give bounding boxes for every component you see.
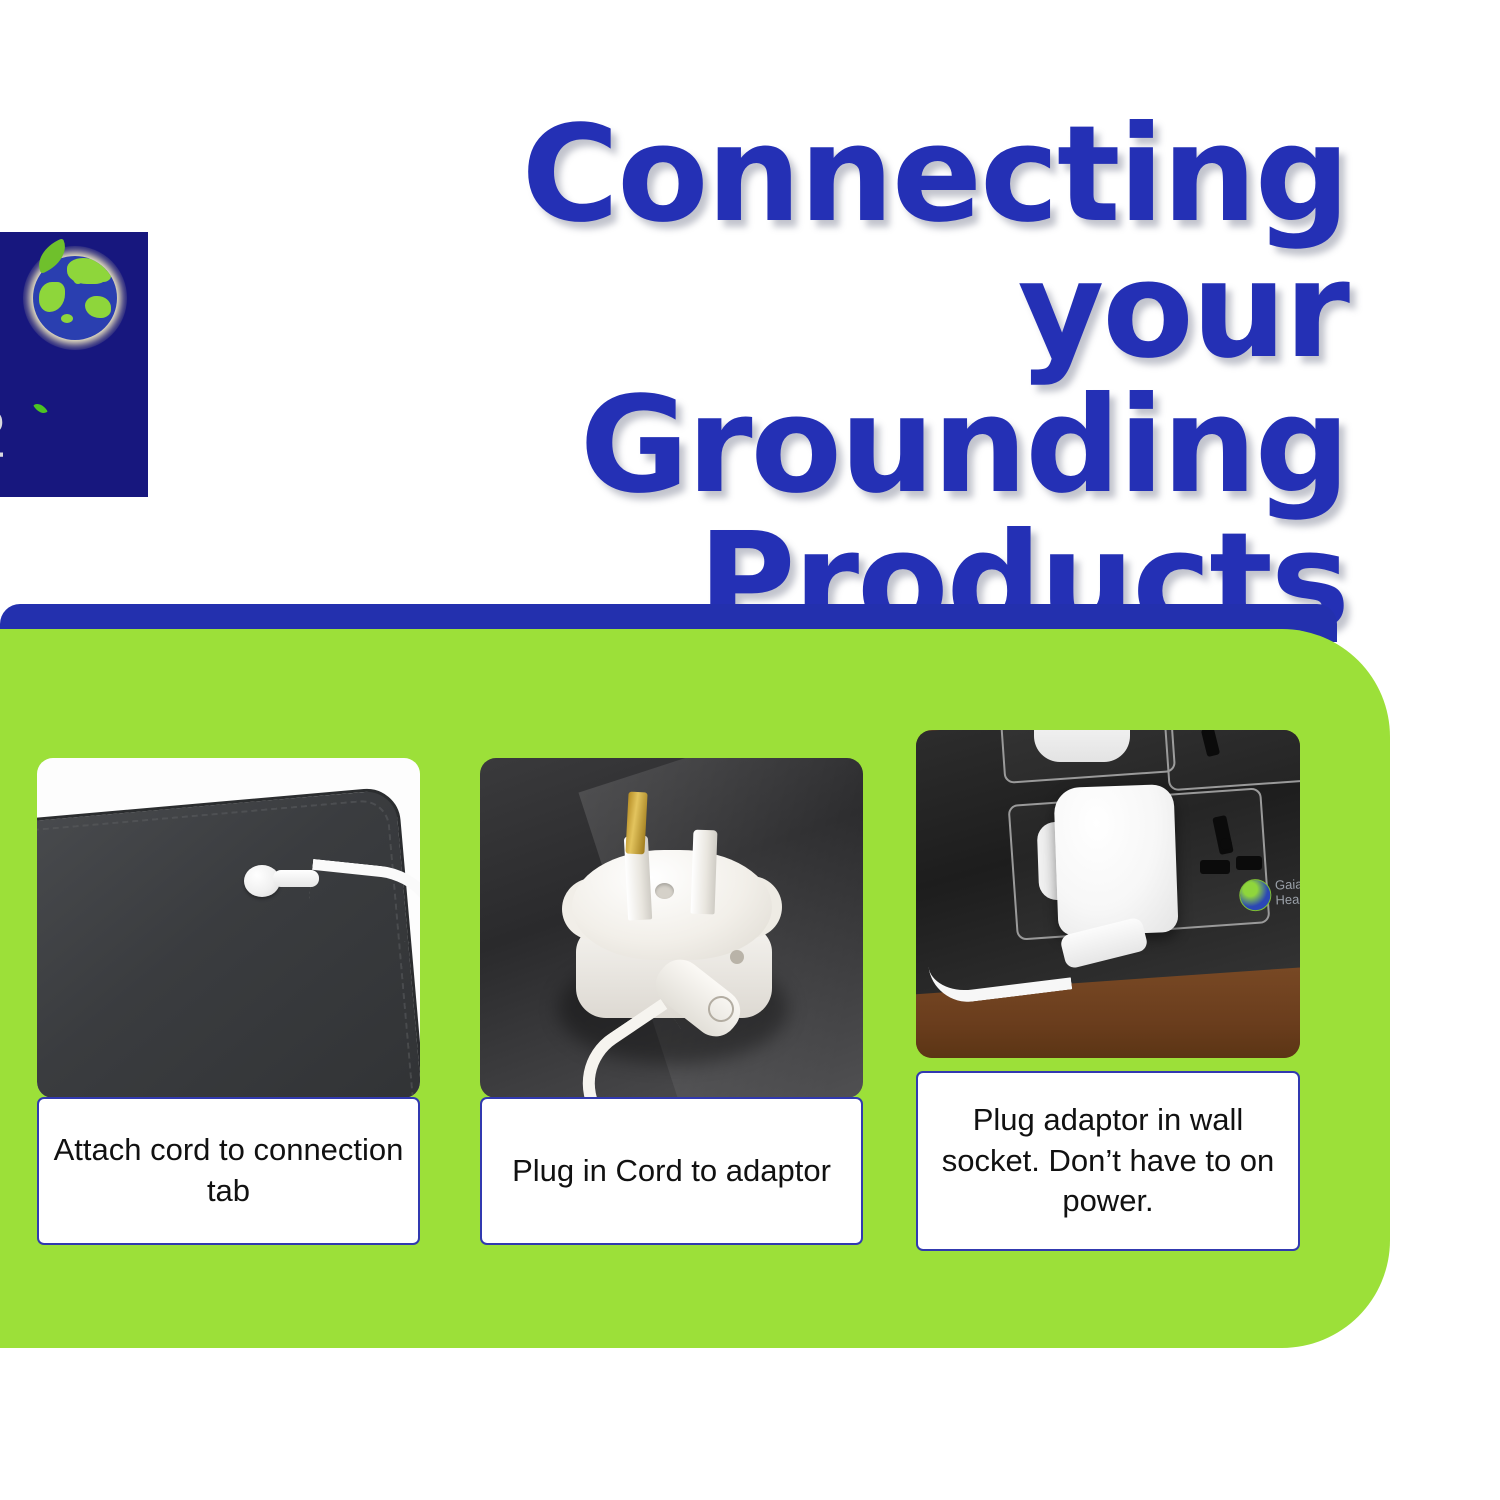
- socket-hole-d: [1236, 856, 1262, 870]
- socket-outline-b: [1164, 730, 1300, 791]
- plug-body: [572, 850, 772, 960]
- socket-hole-e: [1220, 838, 1232, 850]
- globe-logo-icon: [23, 246, 127, 350]
- plug-pin-right: [691, 830, 718, 915]
- globe-land-speck-c: [95, 270, 111, 282]
- brand-logo-badge: Gaia Health Earthing: [0, 232, 148, 497]
- green-panel-corner-fill: [0, 629, 120, 689]
- globe-land-speck-a: [73, 272, 83, 284]
- photo-grounding-mat: [37, 758, 420, 1098]
- adaptor-logo-label: Gaia Health: [1275, 877, 1300, 908]
- gaia-health-adaptor: Gaia Health: [1053, 784, 1178, 936]
- globe-land-speck-b: [61, 314, 73, 323]
- brand-text-block: Gaia Health Earthing: [0, 350, 148, 497]
- page-title: Connecting your Grounding Products: [300, 108, 1348, 651]
- plug-centre-hole: [655, 883, 674, 899]
- mini-leaf-icon: [33, 401, 48, 417]
- step-caption-3: Plug adaptor in wall socket. Don’t have …: [916, 1071, 1300, 1251]
- globe-land-west: [39, 282, 65, 312]
- photo-adaptor-in-socket: Weiduka audio AC8.8 POWER FILTER PROTECT…: [916, 730, 1300, 1058]
- socket-hole-c: [1200, 860, 1230, 874]
- mat-surface: [37, 786, 420, 1098]
- globe-land-east: [85, 296, 111, 318]
- mat-cord: [306, 859, 420, 946]
- step-caption-1: Attach cord to connection tab: [37, 1097, 420, 1245]
- mat-stitching: [37, 798, 416, 1098]
- plug-screw: [730, 950, 744, 964]
- brand-name: Gaia Health: [0, 410, 6, 497]
- plug-earth-pin-brass: [625, 792, 647, 855]
- photo-plug-adaptor: [480, 758, 863, 1098]
- step-caption-2: Plug in Cord to adaptor: [480, 1097, 863, 1245]
- neighbouring-plug: [1034, 730, 1130, 762]
